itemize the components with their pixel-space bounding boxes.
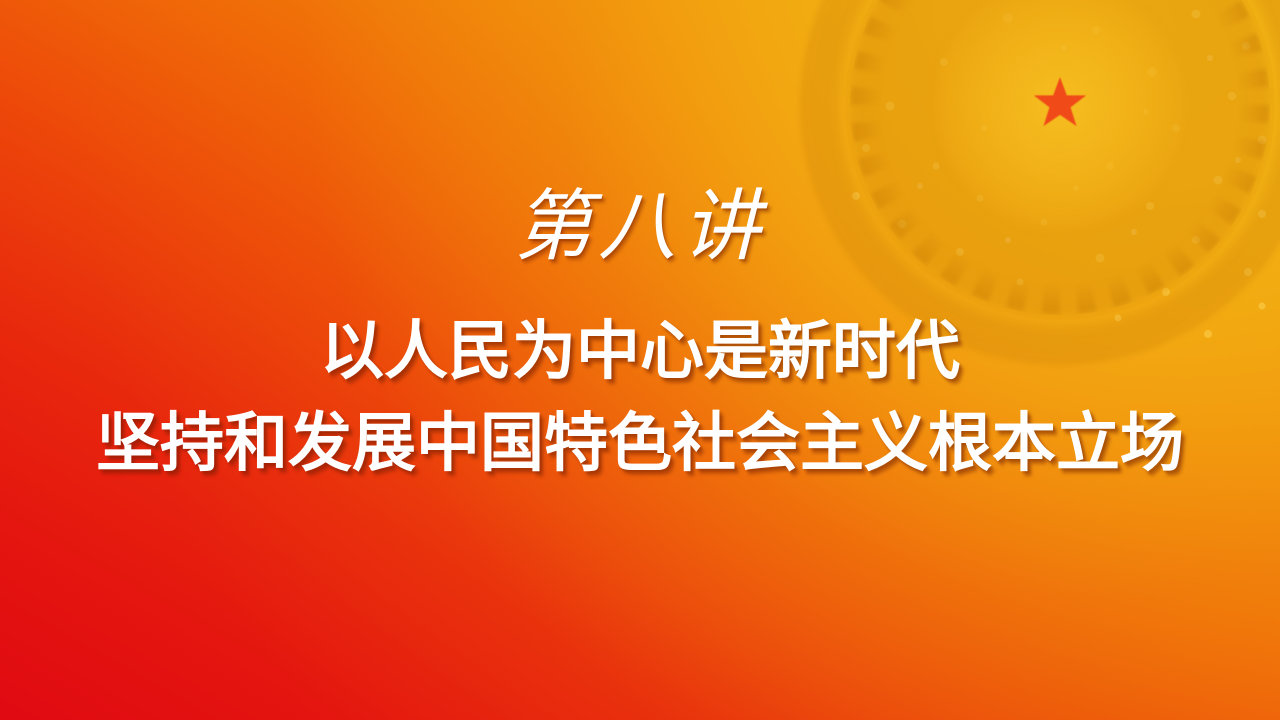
slide-eyebrow-lecture-number: 第八讲 — [0, 188, 1280, 266]
slide-title-line-2: 坚持和发展中国特色社会主义根本立场 — [0, 412, 1280, 476]
emblem-bead-ring — [972, 17, 1148, 193]
emblem-outer-halo — [800, 0, 1280, 365]
title-slide: 第八讲 以人民为中心是新时代 坚持和发展中国特色社会主义根本立场 — [0, 0, 1280, 720]
slide-title-line-1: 以人民为中心是新时代 — [0, 320, 1280, 384]
emblem-petal-ring — [850, 0, 1270, 315]
emblem-bead-ring-outer — [962, 7, 1158, 203]
emblem-scallop-ring — [845, 0, 1275, 320]
five-pointed-star-icon — [1031, 75, 1089, 133]
